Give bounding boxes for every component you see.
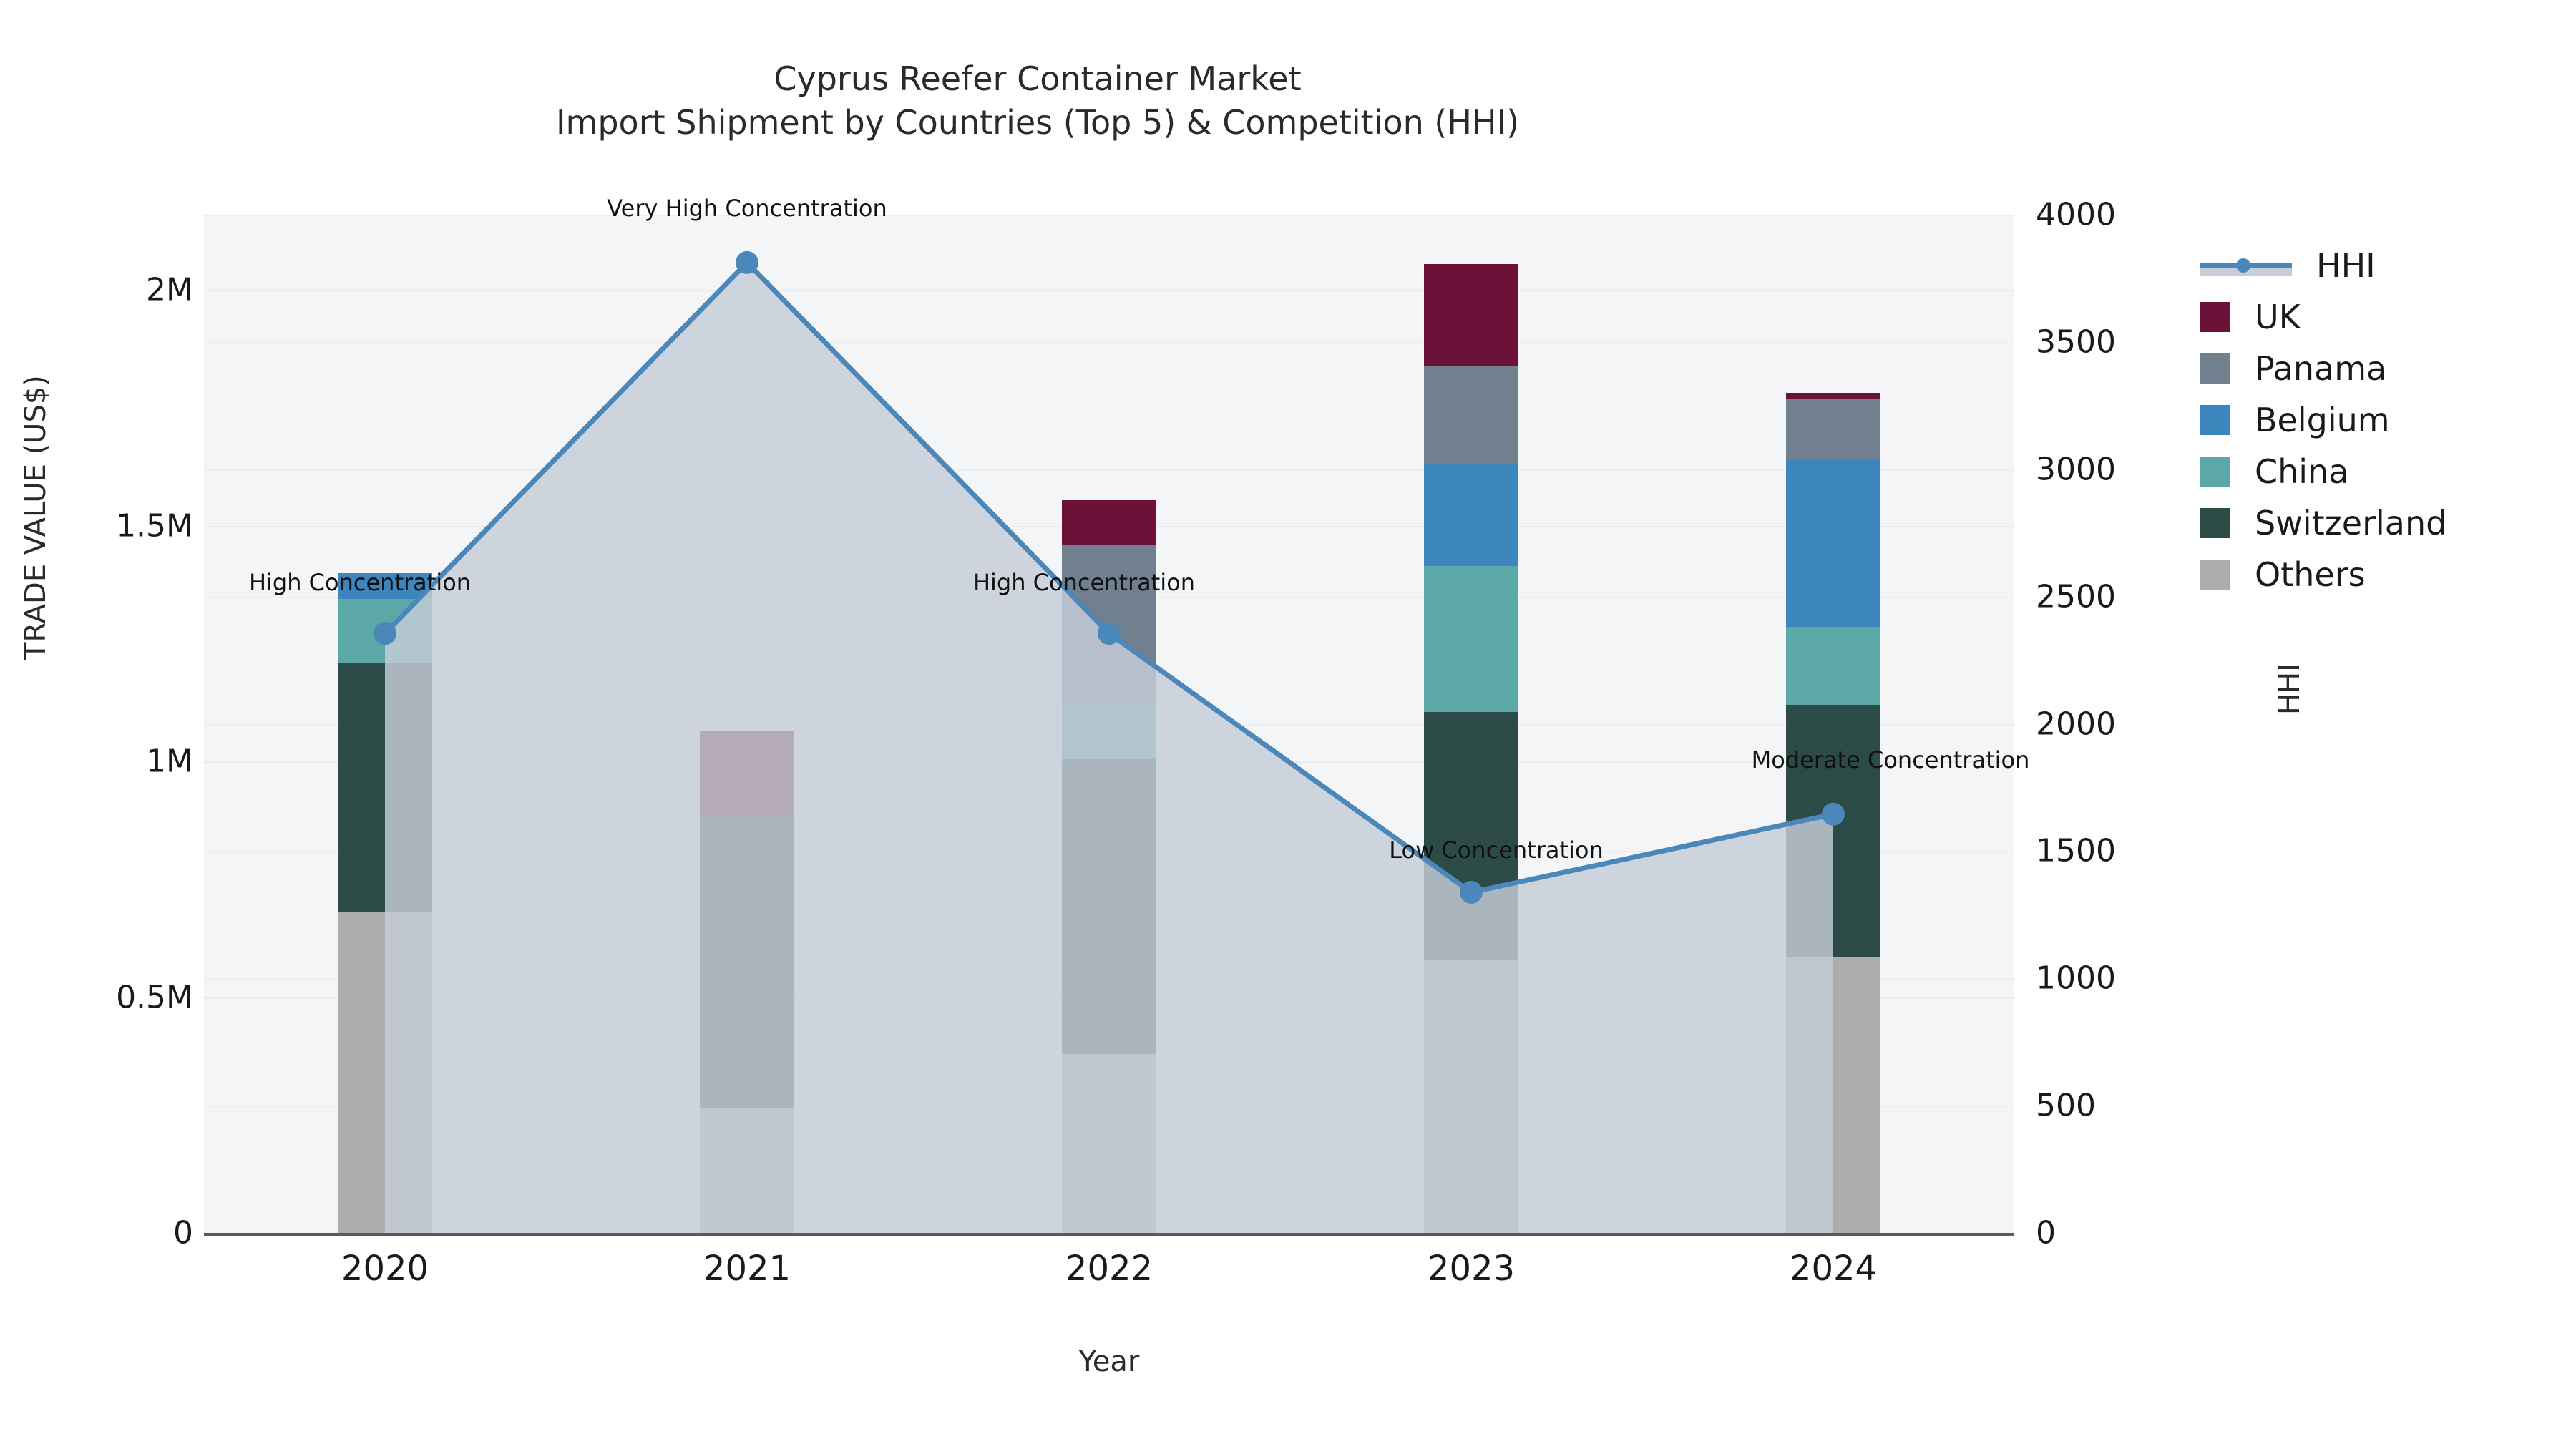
x-axis-tick: 2022 xyxy=(1002,1249,1216,1289)
legend-item[interactable]: Others xyxy=(2200,549,2446,600)
concentration-annotation: Moderate Concentration xyxy=(1752,746,2030,774)
y-axis-right-tick: 1000 xyxy=(2036,960,2250,997)
legend-label: HHI xyxy=(2316,246,2376,285)
bar-segment[interactable] xyxy=(1786,399,1880,460)
chart-title-line1: Cyprus Reefer Container Market xyxy=(774,59,1301,98)
y-axis-left-tick: 2M xyxy=(0,272,193,308)
legend-swatch-icon xyxy=(2200,508,2230,538)
bar-segment[interactable] xyxy=(1424,264,1518,366)
legend-label: Panama xyxy=(2255,349,2386,388)
x-axis-line xyxy=(204,1233,2014,1236)
legend-label: Belgium xyxy=(2255,401,2390,439)
bar-segment[interactable] xyxy=(338,912,432,1233)
y-axis-right-tick: 2000 xyxy=(2036,706,2250,742)
gridline xyxy=(204,290,2014,291)
chart-root: Cyprus Reefer Container Market Import Sh… xyxy=(0,0,2576,1449)
bar-segment[interactable] xyxy=(700,816,794,1108)
bar-segment[interactable] xyxy=(1062,759,1156,1054)
legend-item[interactable]: Switzerland xyxy=(2200,497,2446,549)
bar-segment[interactable] xyxy=(1062,1054,1156,1233)
concentration-annotation: Very High Concentration xyxy=(607,195,887,222)
bar-segment[interactable] xyxy=(1062,500,1156,545)
y-axis-right-tick: 0 xyxy=(2036,1215,2250,1252)
bar-segment[interactable] xyxy=(1424,960,1518,1233)
x-axis-tick: 2020 xyxy=(278,1249,492,1289)
hhi-data-point[interactable] xyxy=(736,251,758,274)
concentration-annotation: Low Concentration xyxy=(1389,836,1604,864)
bar-segment[interactable] xyxy=(1786,460,1880,628)
bar-segment[interactable] xyxy=(338,599,432,663)
y-axis-right-label: HHI xyxy=(2273,582,2306,796)
legend-item[interactable]: Panama xyxy=(2200,343,2446,394)
legend-item[interactable]: Belgium xyxy=(2200,394,2446,446)
bar-segment[interactable] xyxy=(700,731,794,816)
legend-item[interactable]: HHI xyxy=(2200,240,2446,291)
legend-label: Others xyxy=(2255,555,2366,594)
y-axis-left-tick: 0 xyxy=(0,1215,193,1252)
hhi-line-icon xyxy=(2200,250,2292,280)
y-axis-right-tick: 1500 xyxy=(2036,833,2250,869)
legend-swatch-icon xyxy=(2200,405,2230,435)
plot-area: High ConcentrationVery High Concentratio… xyxy=(204,215,2014,1233)
bar-segment[interactable] xyxy=(1786,627,1880,705)
bar-segment[interactable] xyxy=(1424,464,1518,566)
legend-swatch-icon xyxy=(2200,560,2230,590)
bar-segment[interactable] xyxy=(1424,566,1518,712)
x-axis-tick: 2023 xyxy=(1364,1249,1579,1289)
bar-segment[interactable] xyxy=(338,663,432,912)
x-axis-tick: 2021 xyxy=(640,1249,854,1289)
concentration-annotation: High Concentration xyxy=(973,569,1195,596)
bar-segment[interactable] xyxy=(1786,705,1880,957)
bar-segment[interactable] xyxy=(1424,712,1518,960)
y-axis-right-tick: 500 xyxy=(2036,1088,2250,1124)
concentration-annotation: High Concentration xyxy=(249,569,471,596)
bar-segment[interactable] xyxy=(1062,705,1156,759)
chart-title: Cyprus Reefer Container Market Import Sh… xyxy=(0,57,2075,144)
legend-swatch-icon xyxy=(2200,457,2230,487)
bar-segment[interactable] xyxy=(1786,393,1880,399)
legend-label: UK xyxy=(2255,298,2301,336)
y-axis-right-tick: 4000 xyxy=(2036,197,2250,233)
y-axis-left-tick: 1.5M xyxy=(0,507,193,544)
legend-item[interactable]: UK xyxy=(2200,291,2446,343)
bar-segment[interactable] xyxy=(1786,957,1880,1233)
x-axis-tick: 2024 xyxy=(1726,1249,1941,1289)
legend-swatch-icon xyxy=(2200,302,2230,332)
chart-title-line2: Import Shipment by Countries (Top 5) & C… xyxy=(0,101,2075,145)
gridline xyxy=(204,469,2014,471)
y-axis-left-tick: 0.5M xyxy=(0,979,193,1015)
legend: HHIUKPanamaBelgiumChinaSwitzerlandOthers xyxy=(2200,240,2446,600)
gridline xyxy=(204,215,2014,216)
legend-item[interactable]: China xyxy=(2200,446,2446,497)
bar-segment[interactable] xyxy=(1424,366,1518,464)
bar-segment[interactable] xyxy=(700,1108,794,1233)
legend-swatch-icon xyxy=(2200,353,2230,384)
legend-label: Switzerland xyxy=(2255,504,2446,542)
gridline xyxy=(204,342,2014,343)
legend-label: China xyxy=(2255,452,2348,491)
x-axis-label: Year xyxy=(204,1345,2014,1378)
y-axis-left-tick: 1M xyxy=(0,743,193,780)
